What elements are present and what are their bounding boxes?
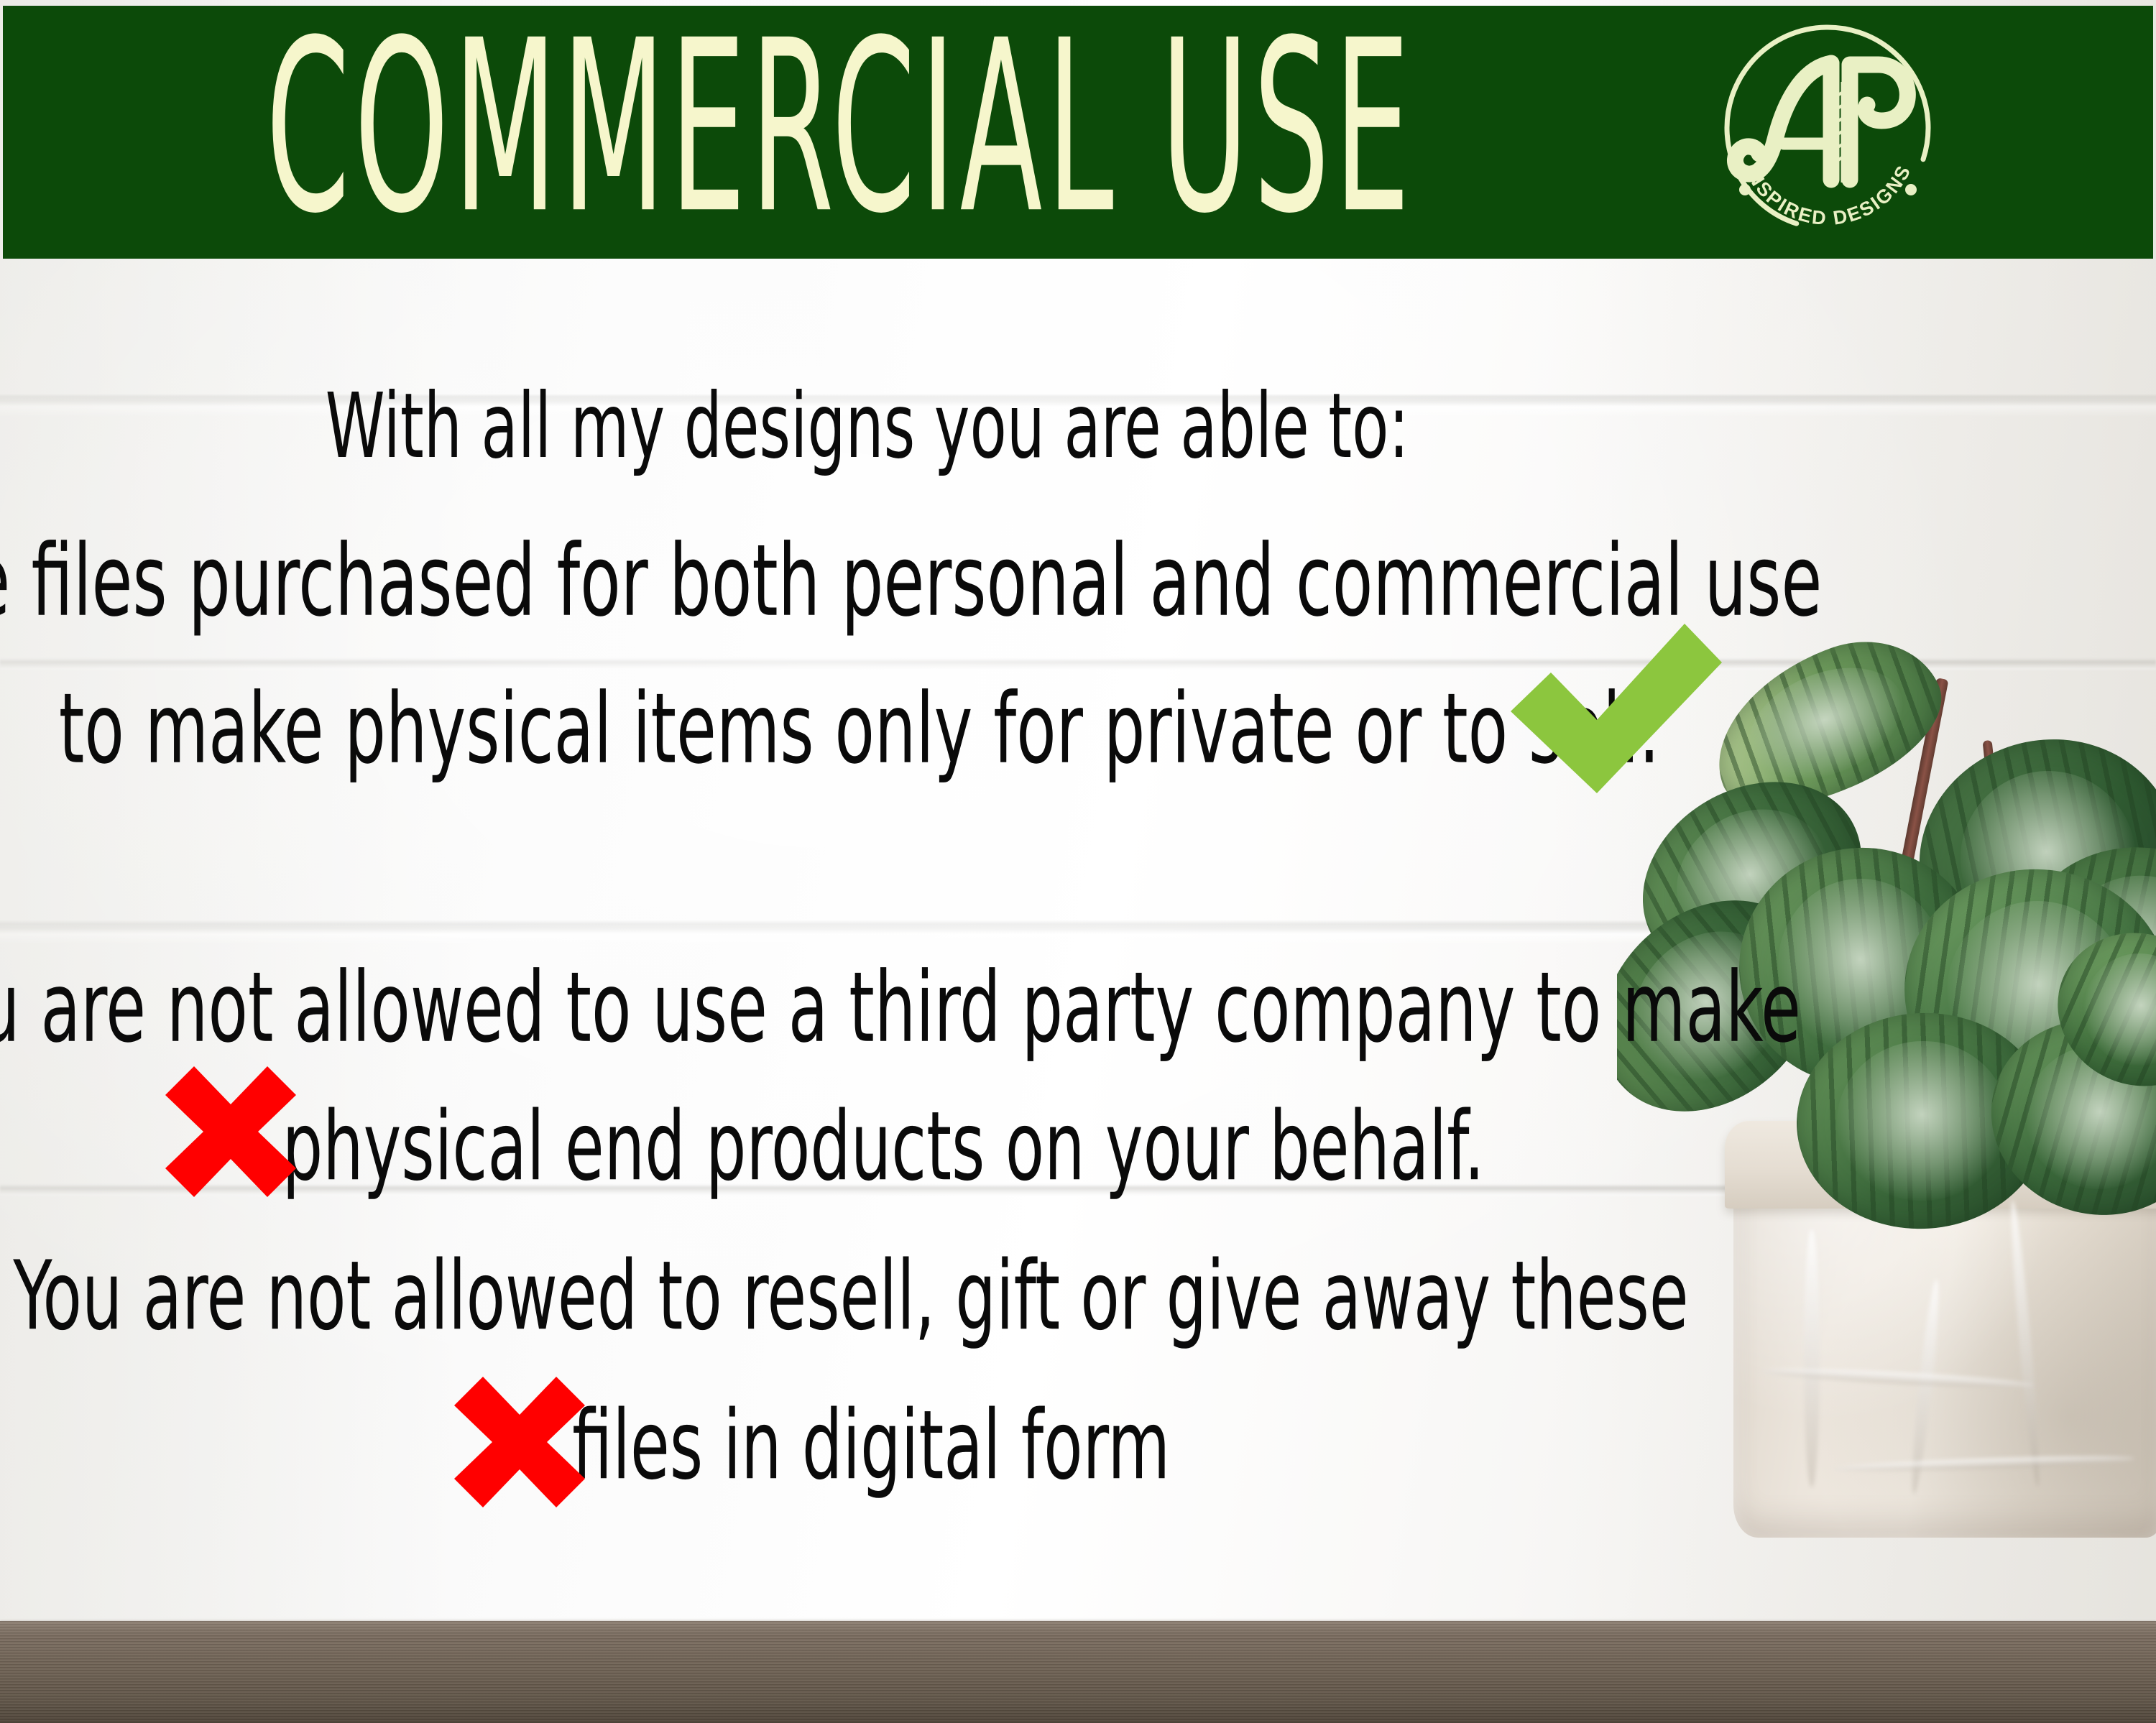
check-mark-icon (1505, 619, 1728, 799)
commercial-use-poster: COMMERCIAL USE (0, 0, 2156, 1723)
restricted-line-1: You are not allowed to use a third party… (0, 958, 1801, 1055)
wood-shelf (0, 1621, 2156, 1723)
page-title: COMMERCIAL USE (321, 6, 1360, 259)
restricted-line-4: files in digital form (572, 1399, 1170, 1495)
brand-logo[interactable]: INSPIRED DESIGNS (1709, 13, 1946, 250)
cross-mark-icon (454, 1377, 585, 1507)
allowed-lead-text: With all my designs you are able to: (326, 382, 1409, 471)
restricted-line-3: You are not allowed to resell, gift or g… (13, 1249, 1688, 1345)
restricted-line-2: physical end products on your behalf. (282, 1100, 1485, 1196)
allowed-line-3: to make physical items only for private … (59, 680, 1660, 777)
cross-mark-icon (165, 1066, 296, 1197)
planter-crease (1804, 1229, 1820, 1487)
allowed-line-2: Use files purchased for both personal an… (0, 532, 1822, 631)
